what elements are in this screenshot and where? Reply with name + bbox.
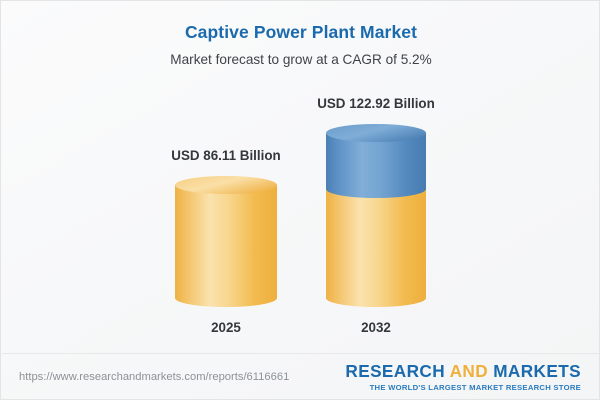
value-label-2032: USD 122.92 Billion: [266, 96, 486, 111]
chart-card: Captive Power Plant Market Market foreca…: [0, 0, 600, 400]
chart-plot-area: USD 86.11 Billion: [1, 1, 600, 353]
logo-wordmark: RESEARCH AND MARKETS: [345, 363, 581, 380]
cylinder-bar-2025[interactable]: [175, 176, 277, 308]
category-label-2032: 2032: [266, 320, 486, 335]
logo-word-and: AND: [450, 361, 488, 381]
value-label-2025: USD 86.11 Billion: [116, 148, 336, 163]
logo-word-research: RESEARCH: [345, 361, 449, 381]
source-url-link[interactable]: https://www.researchandmarkets.com/repor…: [19, 371, 289, 383]
footer-divider: [2, 353, 600, 354]
logo-word-markets: MARKETS: [488, 361, 581, 381]
logo-tagline: THE WORLD'S LARGEST MARKET RESEARCH STOR…: [345, 383, 581, 392]
cylinder-bar-2032[interactable]: [326, 124, 426, 308]
research-and-markets-logo[interactable]: RESEARCH AND MARKETS THE WORLD'S LARGEST…: [345, 363, 581, 392]
